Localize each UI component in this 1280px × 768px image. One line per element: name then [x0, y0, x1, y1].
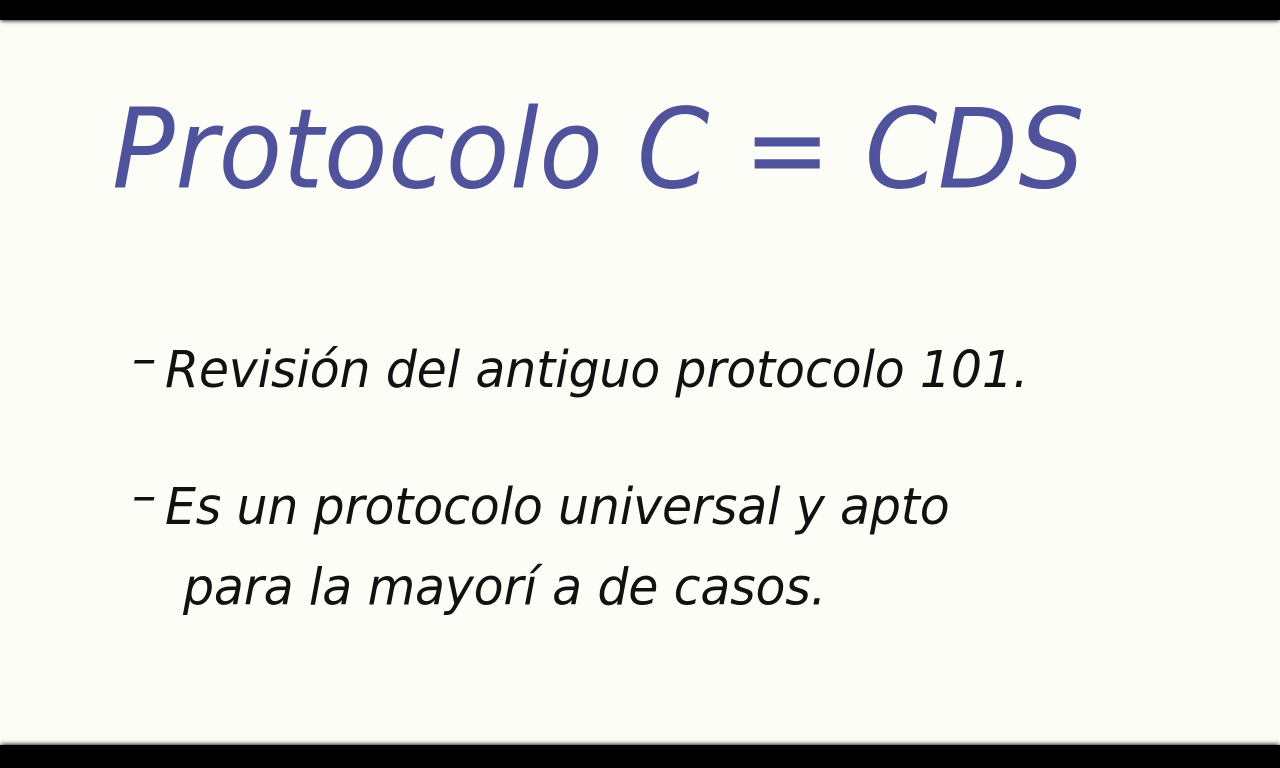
list-item: – Revisión del antiguo protocolo 101.	[132, 330, 1200, 407]
bullet-dash-icon: –	[132, 467, 165, 525]
list-item-line: Es un protocolo universal y apto	[165, 467, 1200, 548]
list-item: – Es un protocolo universal y apto para …	[132, 467, 1200, 622]
page-title: Protocolo C = CDS	[112, 92, 1085, 208]
slide-canvas: Protocolo C = CDS – Revisión del antiguo…	[0, 20, 1280, 745]
letterbox-bar-top	[0, 0, 1280, 20]
letterbox-bar-bottom	[0, 745, 1280, 768]
list-item-text: Revisión del antiguo protocolo 101.	[165, 330, 1200, 411]
list-item-line: para la mayorí a de casos.	[165, 548, 1200, 629]
list-item-text: Es un protocolo universal y apto para la…	[165, 467, 1200, 628]
bullet-list: – Revisión del antiguo protocolo 101. – …	[132, 330, 1200, 622]
video-frame: Protocolo C = CDS – Revisión del antiguo…	[0, 0, 1280, 768]
list-item-line: Revisión del antiguo protocolo 101.	[165, 330, 1200, 411]
bullet-dash-icon: –	[132, 330, 165, 388]
